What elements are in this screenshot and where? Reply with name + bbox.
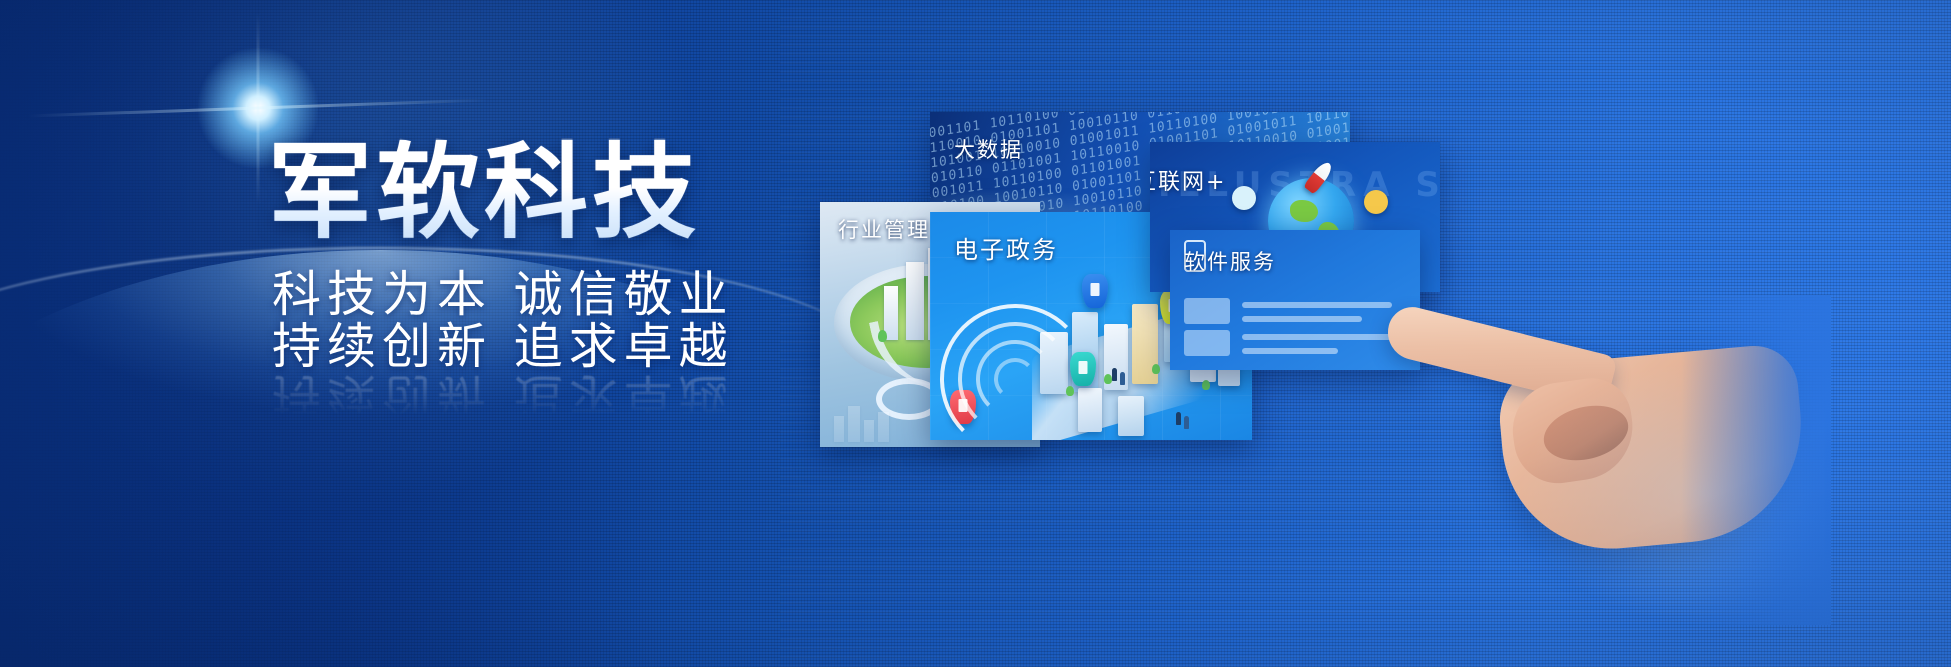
card-bigdata-label: 大数据	[954, 134, 1023, 164]
card-software-services[interactable]: 软件服务	[1170, 230, 1420, 370]
map-node-icon	[1364, 190, 1388, 214]
chat-node-icon	[1232, 186, 1256, 210]
map-pin-red-icon	[950, 390, 976, 424]
slogan-reflection: 持续创新 追求卓越	[272, 372, 734, 421]
map-pin-blue-icon	[1082, 274, 1108, 308]
company-title: 军软科技	[268, 140, 700, 244]
card-software-label: 软件服务	[1184, 246, 1276, 276]
card-egovernment-label: 电子政务	[954, 230, 1058, 265]
hero-banner: 军软科技 科技为本 诚信敬业 持续创新 追求卓越 持续创新 追求卓越 01001…	[0, 0, 1951, 667]
card-internet-label: 互联网+	[1150, 164, 1226, 196]
map-pin-teal-icon	[1070, 352, 1096, 386]
slogan-line-2: 持续创新 追求卓越	[272, 322, 734, 371]
slogan-line-1: 科技为本 诚信敬业	[272, 270, 734, 319]
pointing-hand-icon	[1395, 295, 1825, 625]
card-industry-label: 行业管理	[838, 214, 930, 244]
brand-text-block: 军软科技 科技为本 诚信敬业 持续创新 追求卓越 持续创新 追求卓越	[0, 0, 820, 667]
